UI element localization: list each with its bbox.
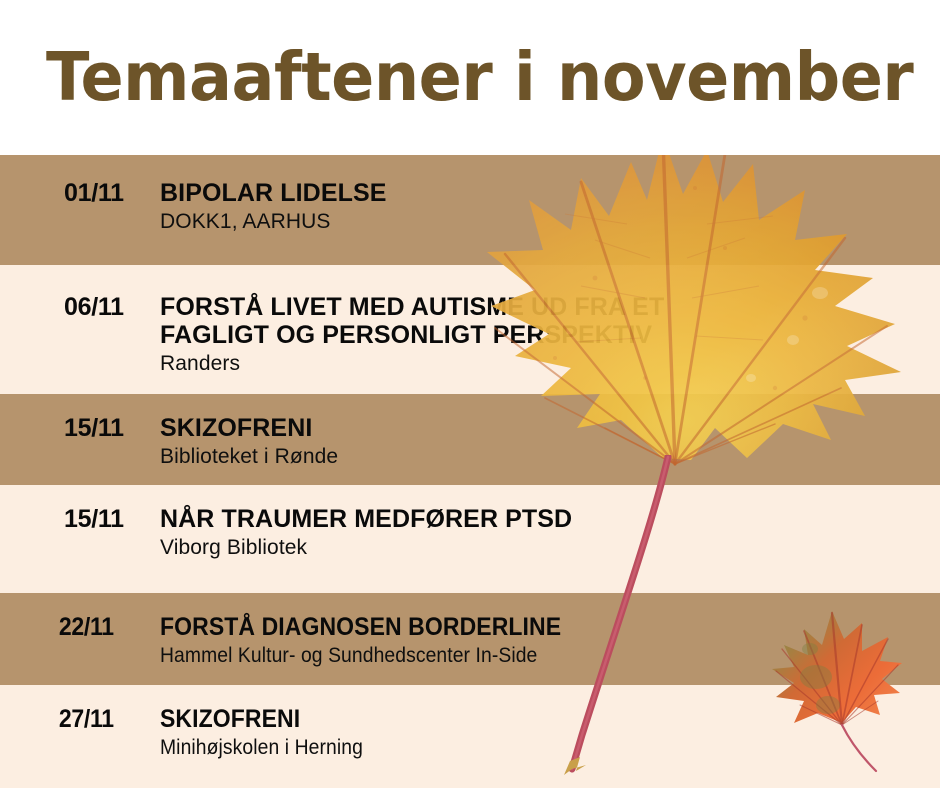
event-body: SKIZOFRENIMinihøjskolen i Herning bbox=[160, 705, 940, 760]
event-date: 15/11 bbox=[0, 414, 160, 443]
event-row: 27/11SKIZOFRENIMinihøjskolen i Herning bbox=[0, 685, 940, 788]
page-title: Temaaftener i november bbox=[46, 44, 913, 111]
event-title: NÅR TRAUMER MEDFØRER PTSD bbox=[160, 505, 920, 533]
event-row: 15/11SKIZOFRENIBiblioteket i Rønde bbox=[0, 394, 940, 485]
event-body: BIPOLAR LIDELSEDOKK1, AARHUS bbox=[160, 179, 940, 234]
event-venue: Biblioteket i Rønde bbox=[160, 444, 920, 469]
event-title: BIPOLAR LIDELSE bbox=[160, 179, 920, 207]
event-title: SKIZOFRENI bbox=[160, 705, 859, 733]
event-venue: Randers bbox=[160, 351, 920, 376]
event-body: SKIZOFRENIBiblioteket i Rønde bbox=[160, 414, 940, 469]
event-venue: DOKK1, AARHUS bbox=[160, 209, 920, 234]
event-row: 01/11BIPOLAR LIDELSEDOKK1, AARHUS bbox=[0, 155, 940, 265]
event-date: 22/11 bbox=[0, 613, 147, 642]
event-body: NÅR TRAUMER MEDFØRER PTSDViborg Bibliote… bbox=[160, 505, 940, 560]
event-body: FORSTÅ DIAGNOSEN BORDERLINEHammel Kultur… bbox=[160, 613, 940, 668]
event-date: 01/11 bbox=[0, 179, 160, 208]
event-date: 06/11 bbox=[0, 293, 160, 322]
event-body: FORSTÅ LIVET MED AUTISME UD FRA ETFAGLIG… bbox=[160, 293, 940, 376]
event-row: 06/11FORSTÅ LIVET MED AUTISME UD FRA ETF… bbox=[0, 265, 940, 394]
event-row: 22/11FORSTÅ DIAGNOSEN BORDERLINEHammel K… bbox=[0, 593, 940, 685]
event-title: FORSTÅ LIVET MED AUTISME UD FRA ETFAGLIG… bbox=[160, 293, 920, 349]
event-date: 27/11 bbox=[0, 705, 147, 734]
event-date: 15/11 bbox=[0, 505, 160, 534]
event-title: SKIZOFRENI bbox=[160, 414, 920, 442]
event-venue: Viborg Bibliotek bbox=[160, 535, 920, 560]
event-list: 01/11BIPOLAR LIDELSEDOKK1, AARHUS06/11FO… bbox=[0, 155, 940, 788]
poster-canvas: Temaaftener i november 01/11BIPOLAR LIDE… bbox=[0, 0, 940, 788]
event-row: 15/11NÅR TRAUMER MEDFØRER PTSDViborg Bib… bbox=[0, 485, 940, 593]
event-title: FORSTÅ DIAGNOSEN BORDERLINE bbox=[160, 613, 859, 641]
event-venue: Minihøjskolen i Herning bbox=[160, 735, 859, 760]
poster-header: Temaaftener i november bbox=[0, 0, 940, 155]
event-venue: Hammel Kultur- og Sundhedscenter In-Side bbox=[160, 643, 859, 668]
